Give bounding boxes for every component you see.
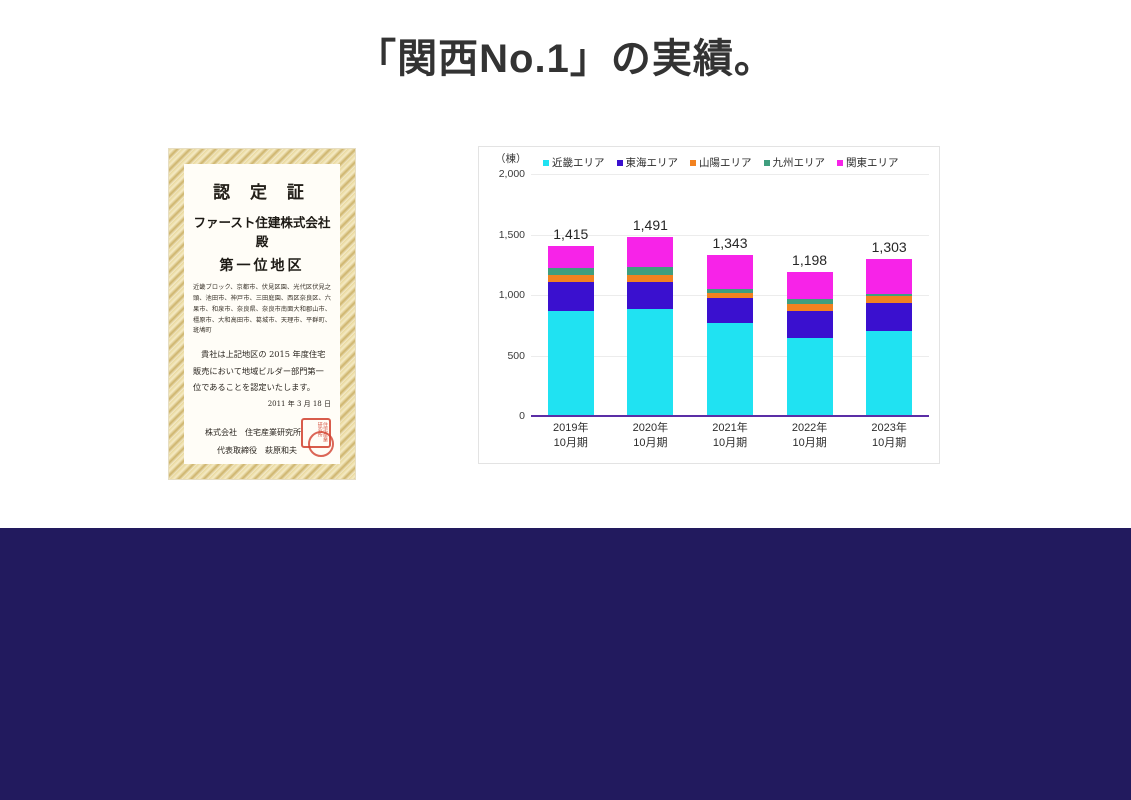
bar-segment [548, 282, 594, 311]
legend-item-1: 東海エリア [617, 155, 679, 170]
certificate-company: ファースト住建株式会社 殿 [193, 212, 331, 250]
bar-total-label: 1,491 [633, 217, 668, 233]
legend-item-4: 関東エリア [837, 155, 899, 170]
bar-column: 1,198 [787, 175, 833, 417]
certificate-image: 認 定 証 ファースト住建株式会社 殿 第一位地区 近畿ブロック、京都市、伏見区… [168, 148, 356, 480]
certificate-date: 2011 年 3 月 18 日 [193, 399, 331, 409]
bar-segment [548, 311, 594, 417]
bar-segment [627, 267, 673, 274]
x-axis-label: 2020年10月期 [627, 421, 673, 457]
bar-segment [866, 259, 912, 293]
legend-swatch-icon [543, 160, 549, 166]
legend-swatch-icon [764, 160, 770, 166]
bar-segment [787, 338, 833, 417]
legend-label: 山陽エリア [699, 155, 752, 170]
x-axis-label: 2022年10月期 [787, 421, 833, 457]
bar-segment [787, 311, 833, 339]
y-axis-tick-label: 0 [519, 410, 525, 422]
x-axis-label: 2021年10月期 [707, 421, 753, 457]
bar-total-label: 1,415 [553, 226, 588, 242]
page-root: 「関西No.1」の実績。 認 定 証 ファースト住建株式会社 殿 第一位地区 近… [0, 0, 1131, 800]
bar-column: 1,491 [627, 175, 673, 417]
bar-total-label: 1,343 [712, 235, 747, 251]
legend-label: 関東エリア [846, 155, 899, 170]
bar-segment [548, 246, 594, 268]
bar-column: 1,415 [548, 175, 594, 417]
legend-swatch-icon [617, 160, 623, 166]
bar-column: 1,303 [866, 175, 912, 417]
bar-segment [707, 255, 753, 289]
certificate-areas: 近畿ブロック、京都市、伏見区園、光代区伏見之頭、池田市、神戸市、三田庭園、西区奈… [193, 283, 331, 337]
bar-segment [548, 275, 594, 283]
bar-segment [866, 303, 912, 331]
x-axis-label: 2019年10月期 [548, 421, 594, 457]
legend-item-2: 山陽エリア [690, 155, 752, 170]
legend-item-3: 九州エリア [764, 155, 826, 170]
y-axis-tick-label: 500 [507, 350, 525, 362]
chart-x-axis-labels: 2019年10月期2020年10月期2021年10月期2022年10月期2023… [531, 421, 929, 457]
bar-chart: （棟） 近畿エリア東海エリア山陽エリア九州エリア関東エリア 2,0001,500… [478, 146, 940, 464]
chart-legend: 近畿エリア東海エリア山陽エリア九州エリア関東エリア [543, 155, 899, 170]
certificate-body: 貴社は上記地区の 2015 年度住宅販売において地域ビルダー部門第一位であること… [193, 346, 331, 395]
x-axis-label: 2023年10月期 [866, 421, 912, 457]
y-axis-tick-label: 2,000 [499, 168, 525, 180]
bar-column: 1,343 [707, 175, 753, 417]
legend-label: 東海エリア [626, 155, 679, 170]
legend-swatch-icon [837, 160, 843, 166]
bar-segment [627, 237, 673, 268]
bar-segment [866, 331, 912, 417]
page-title: 「関西No.1」の実績。 [0, 26, 1131, 84]
certificate-round-seal-icon [308, 431, 334, 457]
bar-segment [787, 272, 833, 299]
certificate-rank: 第一位地区 [193, 255, 331, 275]
bar-segment [627, 275, 673, 283]
legend-item-0: 近畿エリア [543, 155, 605, 170]
y-axis-tick-label: 1,000 [499, 289, 525, 301]
bar-segment [627, 309, 673, 417]
bar-total-label: 1,198 [792, 252, 827, 268]
y-axis-tick-label: 1,500 [499, 229, 525, 241]
bar-total-label: 1,303 [872, 239, 907, 255]
bar-segment [707, 323, 753, 417]
bar-segment [707, 298, 753, 323]
bar-segment [787, 304, 833, 311]
bar-segment [627, 282, 673, 309]
navy-panel: おかげ様で数多くのお客様にご愛読いただき、今では関西圏において住宅供給実績トップ… [0, 528, 1131, 800]
chart-axis-baseline [531, 415, 929, 417]
certificate-heading: 認 定 証 [193, 178, 331, 203]
bar-segment [548, 268, 594, 275]
certificate-content: 認 定 証 ファースト住建株式会社 殿 第一位地区 近畿ブロック、京都市、伏見区… [184, 164, 340, 464]
legend-label: 近畿エリア [552, 155, 605, 170]
chart-plot-area: 2,0001,5001,0005000 1,4151,4911,3431,198… [531, 175, 929, 417]
legend-label: 九州エリア [773, 155, 826, 170]
chart-unit-label: （棟） [495, 151, 527, 166]
legend-swatch-icon [690, 160, 696, 166]
chart-bars: 1,4151,4911,3431,1981,303 [531, 175, 929, 417]
